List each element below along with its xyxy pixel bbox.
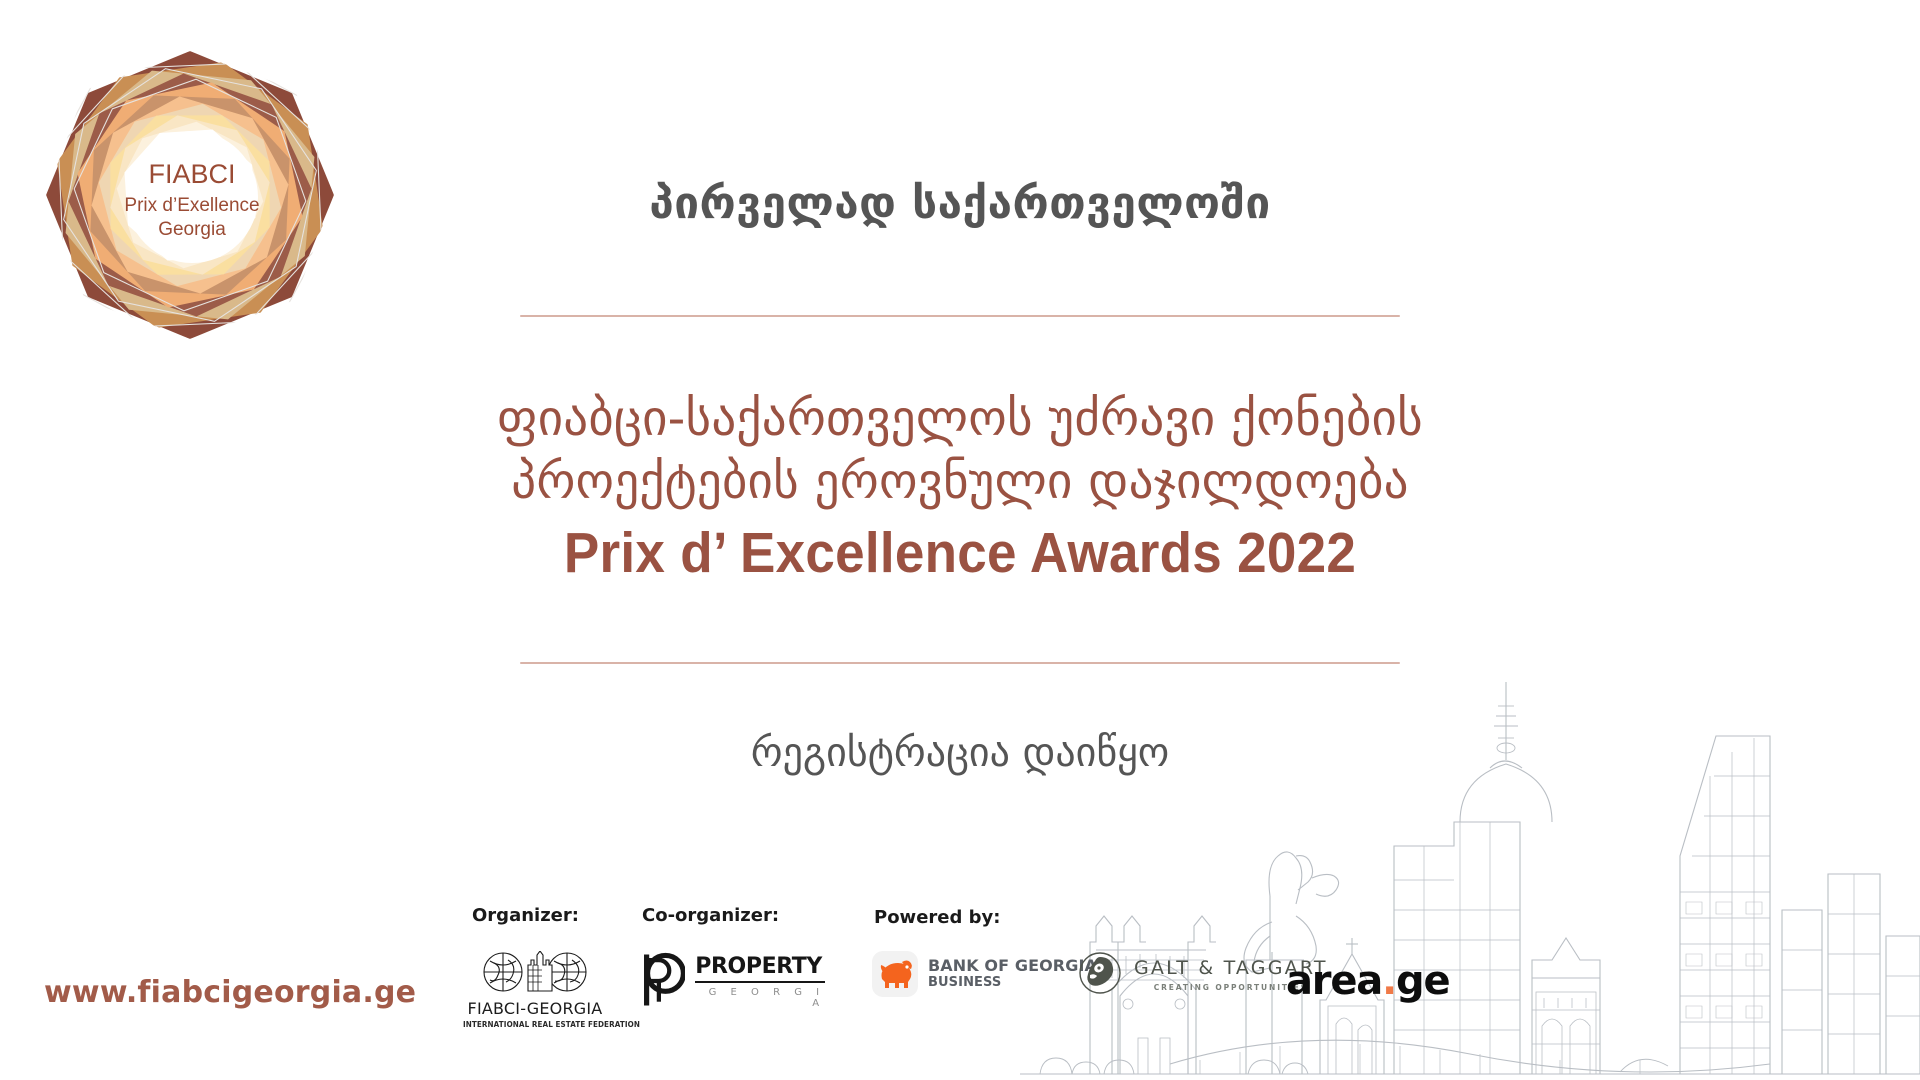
divider-top xyxy=(520,315,1400,317)
brand-logo-line2: Prix d’Exellence xyxy=(124,195,259,216)
headline-line-1: ფიაბცი-საქართველოს უძრავი ქონების xyxy=(260,388,1660,451)
bank-of-georgia-lion-icon xyxy=(872,951,918,997)
area-ge-wordmark-icon: area.ge xyxy=(1286,951,1449,1001)
sponsor-logo-property-georgia[interactable]: PROPERTY G E O R G I A xyxy=(640,951,825,1009)
label-powered-by: Powered by: xyxy=(874,907,1000,928)
sponsor-logo-bank-of-georgia[interactable]: BANK OF GEORGIA BUSINESS xyxy=(872,951,1097,997)
website-url[interactable]: www.fiabcigeorgia.ge xyxy=(44,975,416,1010)
label-organizer: Organizer: xyxy=(472,905,579,926)
brand-logo-line3: Georgia xyxy=(158,219,226,240)
property-georgia-tagline: G E O R G I A xyxy=(695,987,824,1009)
headline-english: Prix d’ Excellence Awards 2022 xyxy=(309,520,1611,586)
fiabci-georgia-name: FIABCI-GEORGIA xyxy=(460,999,610,1018)
fiabci-georgia-globes-tower-icon xyxy=(470,951,600,993)
property-georgia-name: PROPERTY xyxy=(695,956,824,983)
property-georgia-p-monogram-icon xyxy=(640,951,685,1009)
fiabci-georgia-tagline: INTERNATIONAL REAL ESTATE FEDERATION xyxy=(463,1020,607,1029)
area-ge-name-a: area xyxy=(1286,958,1382,1004)
brand-logo-line1: FIABCI xyxy=(148,159,235,189)
bank-of-georgia-name: BANK OF GEORGIA xyxy=(928,957,1097,975)
headline-georgian: ფიაბცი-საქართველოს უძრავი ქონების პროექტ… xyxy=(260,388,1660,513)
label-co-organizer: Co-organizer: xyxy=(642,905,779,926)
sponsor-logo-area-ge[interactable]: area.ge xyxy=(1286,951,1449,1001)
kicker-text: პირველად საქართველოში xyxy=(360,178,1560,229)
sponsor-logo-fiabci-georgia[interactable]: FIABCI-GEORGIA INTERNATIONAL REAL ESTATE… xyxy=(460,951,610,1029)
headline-line-2: პროექტების ეროვნული დაჯილდოება xyxy=(260,451,1660,514)
registration-status-text: რეგისტრაცია დაიწყო xyxy=(360,730,1560,776)
area-ge-name-b: ge xyxy=(1396,958,1449,1004)
galt-taggart-crest-icon xyxy=(1078,951,1122,995)
area-ge-dot: . xyxy=(1382,958,1396,1004)
bank-of-georgia-tagline: BUSINESS xyxy=(928,976,1097,991)
bank-of-georgia-tile xyxy=(872,951,918,997)
divider-bottom xyxy=(520,662,1400,664)
fiabci-swirl-logo: FIABCI Prix d’Exellence Georgia xyxy=(40,45,340,345)
